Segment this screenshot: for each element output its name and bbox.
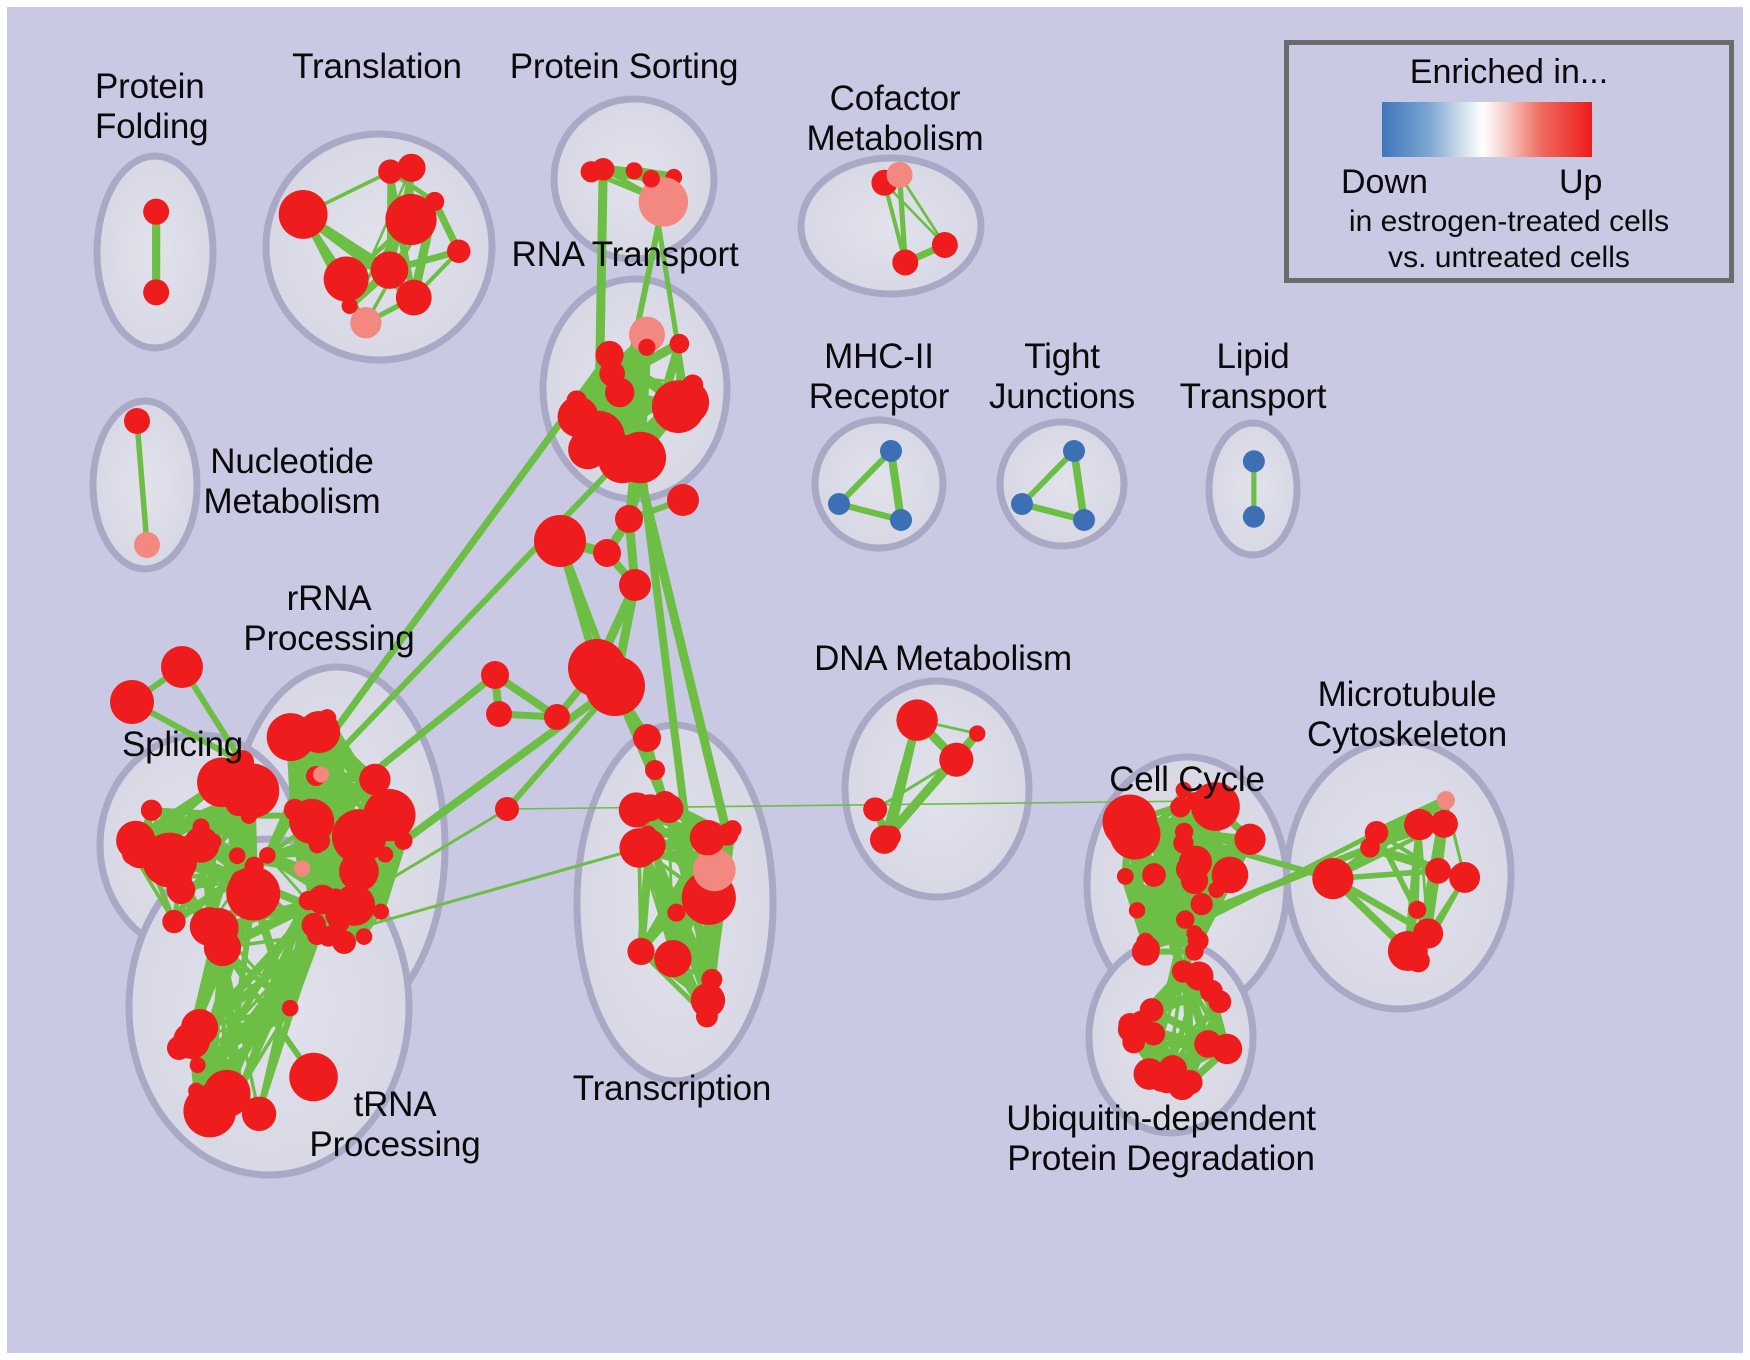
network-node[interactable] [932,232,958,258]
cluster-label-translation: Translation [292,47,462,87]
cluster-label-trna-processing: tRNA Processing [309,1085,480,1164]
network-node[interactable] [162,910,185,933]
network-node[interactable] [1234,824,1265,855]
network-node[interactable] [143,199,169,225]
network-node[interactable] [654,940,691,977]
network-node[interactable] [638,339,655,356]
legend-low-label: Down [1341,163,1428,202]
network-node[interactable] [308,885,338,915]
network-node[interactable] [313,766,329,782]
network-node[interactable] [969,725,985,741]
network-node[interactable] [1170,797,1191,818]
network-node[interactable] [1191,893,1213,915]
network-node[interactable] [1110,809,1161,860]
cluster-label-transcription: Transcription [573,1069,771,1109]
network-node[interactable] [701,969,722,990]
network-node[interactable] [124,408,150,434]
cluster-ellipse-tight-junctions [1000,422,1124,546]
network-node[interactable] [324,257,369,302]
network-node[interactable] [1243,506,1265,528]
network-node[interactable] [1117,868,1134,885]
legend-color-gradient-bar [1382,102,1592,157]
cluster-label-cell-cycle: Cell Cycle [1109,760,1265,800]
network-node[interactable] [939,743,973,777]
cluster-label-microtubule-cytoskeleton: Microtubule Cytoskeleton [1307,675,1507,754]
cluster-label-nucleotide-metabolism: Nucleotide Metabolism [204,442,381,521]
cluster-label-protein-folding: Protein Folding [95,67,208,146]
cluster-label-tight-junctions: Tight Junctions [989,337,1135,416]
network-node[interactable] [229,847,246,864]
network-node[interactable] [870,825,899,854]
legend-caption-line2: vs. untreated cells [1289,241,1729,275]
network-node[interactable] [828,493,850,515]
network-node[interactable] [1413,918,1443,948]
network-node[interactable] [892,249,918,275]
network-node[interactable] [1011,493,1033,515]
network-node[interactable] [203,1070,250,1117]
cluster-label-dna-metabolism: DNA Metabolism [814,639,1072,679]
network-node[interactable] [645,760,665,780]
network-node[interactable] [585,656,645,716]
network-node[interactable] [1449,862,1480,893]
network-node[interactable] [486,701,512,727]
network-node[interactable] [1158,1055,1187,1084]
network-node[interactable] [534,515,586,567]
network-node[interactable] [1365,821,1388,844]
network-node[interactable] [308,830,330,852]
cluster-label-rna-transport: RNA Transport [512,235,739,275]
network-node[interactable] [615,505,643,533]
network-node[interactable] [642,170,660,188]
network-node[interactable] [188,1083,204,1099]
network-node[interactable] [359,764,390,795]
cluster-label-protein-sorting: Protein Sorting [510,47,739,87]
network-node[interactable] [880,440,902,462]
network-node[interactable] [192,819,209,836]
network-node[interactable] [544,704,570,730]
network-node[interactable] [307,925,327,945]
cluster-label-splicing: Splicing [122,725,243,765]
network-node[interactable] [143,279,169,305]
network-node[interactable] [724,820,742,838]
network-node[interactable] [226,867,280,921]
network-node[interactable] [1208,990,1231,1013]
network-node[interactable] [495,797,519,821]
network-node[interactable] [204,929,241,966]
network-node[interactable] [334,885,375,926]
network-node[interactable] [670,334,690,354]
network-node[interactable] [652,791,678,817]
network-node[interactable] [1425,858,1451,884]
network-node[interactable] [1172,960,1194,982]
network-node[interactable] [282,1000,299,1017]
network-node[interactable] [1073,509,1095,531]
network-node[interactable] [1312,858,1353,899]
network-node[interactable] [1142,863,1166,887]
network-node[interactable] [225,763,280,818]
network-node[interactable] [1212,857,1249,894]
cluster-label-rrna-processing: rRNA Processing [243,579,414,658]
network-node[interactable] [396,280,432,316]
network-node[interactable] [394,832,412,850]
network-node[interactable] [1404,809,1435,840]
legend-high-label: Up [1559,163,1602,202]
cluster-ellipse-mhc-ii-receptor [815,420,943,548]
network-node[interactable] [371,251,409,289]
network-node[interactable] [887,162,913,188]
network-node[interactable] [863,797,887,821]
network-node[interactable] [356,928,373,945]
network-node[interactable] [593,539,621,567]
network-node[interactable] [373,904,389,920]
network-node[interactable] [896,699,937,740]
network-node[interactable] [332,930,356,954]
network-node[interactable] [633,724,661,752]
network-node[interactable] [110,680,154,724]
enrichment-map-figure: Protein FoldingTranslationProtein Sortin… [0,0,1750,1360]
network-node[interactable] [294,860,311,877]
network-node[interactable] [1408,901,1426,919]
network-node[interactable] [1212,1034,1242,1064]
network-node[interactable] [1181,867,1208,894]
network-node[interactable] [1063,440,1085,462]
legend-caption-line1: in estrogen-treated cells [1289,205,1729,239]
network-node[interactable] [190,1057,206,1073]
network-node[interactable] [134,532,160,558]
network-node[interactable] [141,800,162,821]
network-node[interactable] [696,1006,718,1028]
network-node[interactable] [391,221,408,238]
network-node[interactable] [890,509,912,531]
network-node[interactable] [581,161,602,182]
legend-box: Enriched in... Down Up in estrogen-treat… [1284,40,1734,283]
network-node[interactable] [161,646,203,688]
network-node[interactable] [682,374,703,395]
network-node[interactable] [481,661,509,689]
network-node[interactable] [595,341,623,369]
cluster-label-lipid-transport: Lipid Transport [1180,337,1327,416]
legend-title: Enriched in... [1289,53,1729,92]
network-node[interactable] [378,159,402,183]
network-node[interactable] [447,239,470,262]
network-node[interactable] [639,825,656,842]
cluster-label-cofactor-metabolism: Cofactor Metabolism [807,79,984,158]
network-node[interactable] [667,904,685,922]
network-node[interactable] [693,849,736,892]
network-node[interactable] [1188,930,1209,951]
network-node[interactable] [1137,937,1160,960]
cluster-label-mhc-ii-receptor: MHC-II Receptor [809,337,949,416]
network-node[interactable] [298,711,340,753]
network-node[interactable] [619,569,651,601]
network-node[interactable] [558,396,599,437]
network-node[interactable] [1129,902,1145,918]
cluster-ellipse-dna-metabolism [845,681,1029,897]
network-node[interactable] [1243,450,1265,472]
network-node[interactable] [627,938,654,965]
network-node[interactable] [124,836,156,868]
network-node[interactable] [667,484,699,516]
network-node[interactable] [690,820,726,856]
network-node[interactable] [626,162,643,179]
network-node[interactable] [1118,1013,1142,1037]
network-node[interactable] [279,190,328,239]
network-node[interactable] [332,809,386,863]
network-node[interactable] [167,1036,191,1060]
network-node[interactable] [167,876,196,905]
network-edge [599,169,604,437]
cluster-label-ubiquitin-protein-degradation: Ubiquitin-dependent Protein Degradation [1006,1099,1316,1178]
network-node[interactable] [1175,823,1193,841]
network-node[interactable] [1437,791,1455,809]
network-node[interactable] [425,192,444,211]
